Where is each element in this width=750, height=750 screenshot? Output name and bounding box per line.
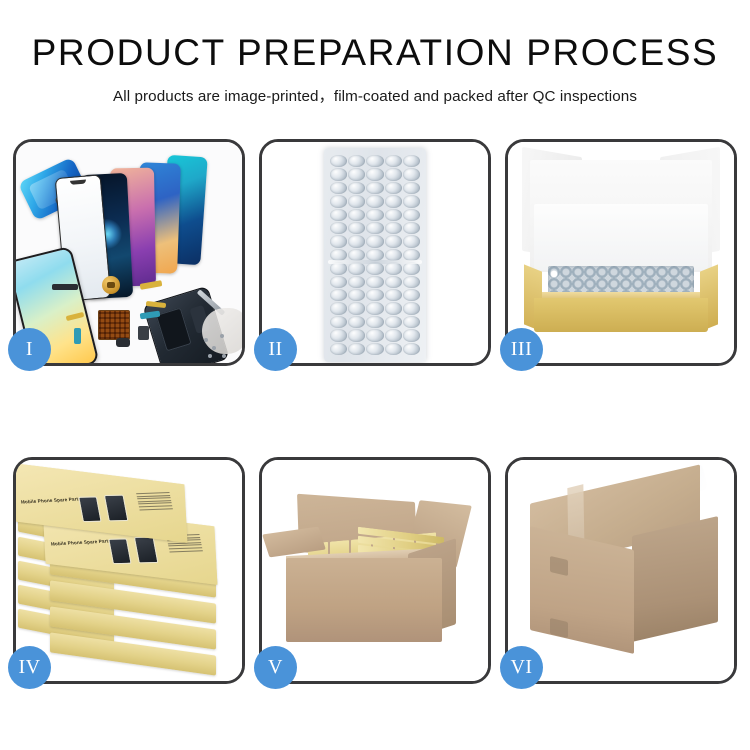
- sealed-carton-illustration: [508, 460, 734, 681]
- bubble: [403, 289, 420, 301]
- bubble: [348, 289, 365, 301]
- step-card-4[interactable]: Mobile Phone Spare Parts Mobile Phone Sp…: [13, 457, 245, 684]
- open-carton-illustration: [262, 460, 488, 681]
- bubble: [366, 155, 383, 167]
- bubble: [403, 222, 420, 234]
- bubble-grid: [330, 155, 420, 355]
- bubble: [366, 329, 383, 341]
- bubble: [330, 329, 347, 341]
- bubble: [385, 276, 402, 288]
- bubble: [330, 302, 347, 314]
- bubble-wrap-pouch: [324, 148, 426, 362]
- bubble: [366, 316, 383, 328]
- bubble: [348, 195, 365, 207]
- bubble: [366, 302, 383, 314]
- teal-connector: [74, 328, 81, 344]
- bubble: [348, 168, 365, 180]
- bubble: [348, 276, 365, 288]
- bubble: [366, 276, 383, 288]
- bubble: [403, 182, 420, 194]
- bubble: [348, 222, 365, 234]
- process-steps-grid: I: [13, 139, 737, 684]
- copper-coil-part: [102, 276, 120, 294]
- bubble: [403, 235, 420, 247]
- step-card-2[interactable]: II: [259, 139, 491, 366]
- step-badge-3: III: [500, 328, 543, 371]
- bubble-wrap-illustration: [262, 142, 488, 363]
- bubble: [366, 195, 383, 207]
- bubble: [403, 168, 420, 180]
- bubble: [385, 235, 402, 247]
- step-badge-4: IV: [8, 646, 51, 689]
- bubble: [330, 235, 347, 247]
- copper-grid-chip: [98, 310, 130, 340]
- phone-products-illustration: [16, 142, 242, 363]
- bubble: [403, 195, 420, 207]
- step-badge-5: V: [254, 646, 297, 689]
- screw-1: [204, 338, 208, 342]
- bubble: [348, 209, 365, 221]
- step-image-3: [508, 142, 734, 363]
- step-card-1[interactable]: I: [13, 139, 245, 366]
- bubble: [385, 182, 402, 194]
- bubble: [385, 343, 402, 355]
- screw-3: [220, 334, 224, 338]
- bubble: [366, 182, 383, 194]
- screw-5: [222, 354, 226, 358]
- bubble: [385, 155, 402, 167]
- sealed-carton-side-panel: [632, 516, 718, 642]
- bubble: [385, 168, 402, 180]
- step-card-3[interactable]: III: [505, 139, 737, 366]
- camera-module-part: [116, 338, 130, 347]
- bubble: [348, 302, 365, 314]
- bubble: [366, 235, 383, 247]
- step-image-1: [16, 142, 242, 363]
- bubble: [366, 289, 383, 301]
- bubble: [348, 262, 365, 274]
- bubble: [330, 262, 347, 274]
- bubble: [403, 329, 420, 341]
- bubble: [330, 289, 347, 301]
- bubble: [348, 343, 365, 355]
- bubble: [366, 262, 383, 274]
- screw-4: [208, 354, 212, 358]
- foam-insert: [534, 204, 708, 270]
- bubble: [330, 209, 347, 221]
- step-image-2: [262, 142, 488, 363]
- bubble: [330, 316, 347, 328]
- bubble: [403, 209, 420, 221]
- bubble: [385, 209, 402, 221]
- inner-box-illustration: [508, 142, 734, 363]
- bubble: [330, 343, 347, 355]
- stacked-boxes-illustration: Mobile Phone Spare Parts Mobile Phone Sp…: [16, 460, 242, 681]
- step-card-5[interactable]: V: [259, 457, 491, 684]
- bubble: [403, 155, 420, 167]
- bubble: [385, 329, 402, 341]
- bubble: [385, 289, 402, 301]
- step-image-5: [262, 460, 488, 681]
- bubble: [330, 182, 347, 194]
- header: PRODUCT PREPARATION PROCESS All products…: [0, 0, 750, 106]
- carton-front-panel: [286, 558, 442, 642]
- battery-connector-part: [138, 326, 149, 340]
- bubble: [385, 262, 402, 274]
- bubble: [348, 182, 365, 194]
- bubble: [348, 316, 365, 328]
- box-front-panel: [534, 298, 708, 332]
- bubble: [366, 222, 383, 234]
- bubble: [385, 222, 402, 234]
- bubble: [366, 343, 383, 355]
- step-badge-6: VI: [500, 646, 543, 689]
- step-image-6: [508, 460, 734, 681]
- bubble: [385, 302, 402, 314]
- hand-illustration: [202, 308, 242, 354]
- bubble: [330, 195, 347, 207]
- bubble: [385, 195, 402, 207]
- speaker-part: [52, 284, 78, 290]
- bubble: [348, 155, 365, 167]
- bubble: [366, 168, 383, 180]
- step-card-6[interactable]: VI: [505, 457, 737, 684]
- step-badge-2: II: [254, 328, 297, 371]
- bubble: [348, 235, 365, 247]
- bubble: [403, 316, 420, 328]
- page-title: PRODUCT PREPARATION PROCESS: [0, 34, 750, 73]
- bubble: [403, 276, 420, 288]
- wrap-seam: [328, 260, 422, 264]
- bubble: [330, 168, 347, 180]
- retail-box-stack: Mobile Phone Spare Parts Mobile Phone Sp…: [16, 460, 242, 681]
- box-feature-lines-upper: [136, 492, 173, 510]
- bubble: [348, 329, 365, 341]
- bubble: [330, 155, 347, 167]
- step-image-4: Mobile Phone Spare Parts Mobile Phone Sp…: [16, 460, 242, 681]
- bubble: [403, 343, 420, 355]
- bubble: [330, 276, 347, 288]
- step-badge-1: I: [8, 328, 51, 371]
- bubble: [366, 209, 383, 221]
- bubble: [403, 262, 420, 274]
- page-subtitle: All products are image-printed，film-coat…: [0, 84, 750, 106]
- bubble: [385, 316, 402, 328]
- bubble: [403, 302, 420, 314]
- screw-2: [212, 346, 216, 350]
- bubble: [330, 222, 347, 234]
